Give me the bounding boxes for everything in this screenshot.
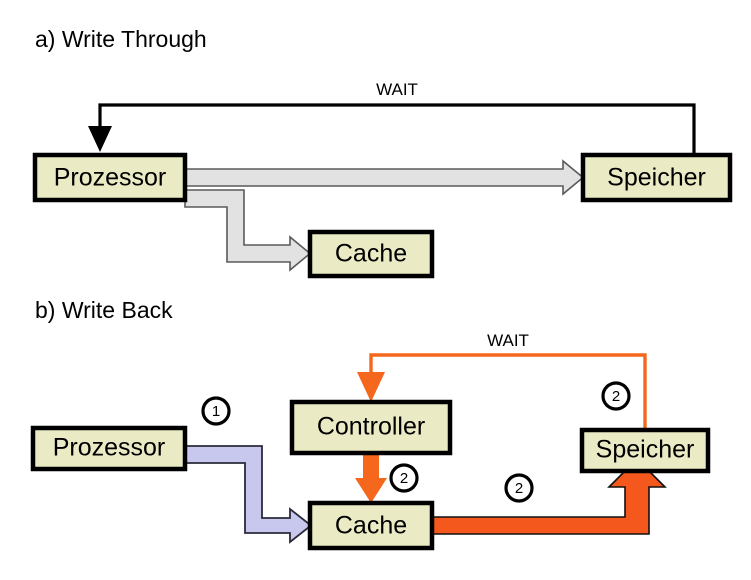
step-badge-speicher-wait-label: 2: [612, 388, 620, 405]
box-speicher-b-label: Speicher: [596, 436, 695, 464]
box-prozessor-b: Prozessor: [33, 428, 185, 469]
box-speicher-b: Speicher: [582, 430, 708, 471]
step-badge-controller-to-cache-label: 2: [400, 470, 408, 487]
box-speicher-a: Speicher: [583, 155, 730, 200]
section-title-write-back: b) Write Back: [35, 297, 173, 323]
step-badge-cache-to-speicher: 2: [506, 475, 532, 501]
box-cache-a-label: Cache: [335, 240, 407, 268]
step-badge-cache-to-speicher-label: 2: [515, 480, 523, 497]
step-badge-controller-to-cache: 2: [391, 465, 417, 491]
box-cache-a: Cache: [310, 232, 432, 276]
wait-label-a: WAIT: [376, 80, 418, 99]
box-cache-b: Cache: [310, 503, 432, 548]
cache-write-policy-diagram: a) Write Through WAIT Prozessor Speicher…: [0, 0, 751, 580]
box-prozessor-a-label: Prozessor: [54, 164, 167, 192]
wait-label-b: WAIT: [487, 331, 529, 350]
step-badge-prozessor-to-cache: 1: [203, 398, 229, 424]
section-title-write-through: a) Write Through: [35, 26, 207, 52]
box-controller-b: Controller: [292, 402, 450, 453]
step-badge-prozessor-to-cache-label: 1: [212, 403, 220, 420]
box-prozessor-a: Prozessor: [35, 155, 185, 200]
box-controller-b-label: Controller: [317, 413, 425, 441]
box-cache-b-label: Cache: [335, 512, 407, 540]
box-prozessor-b-label: Prozessor: [53, 434, 166, 462]
box-speicher-a-label: Speicher: [607, 164, 706, 192]
step-badge-speicher-wait: 2: [603, 383, 629, 409]
